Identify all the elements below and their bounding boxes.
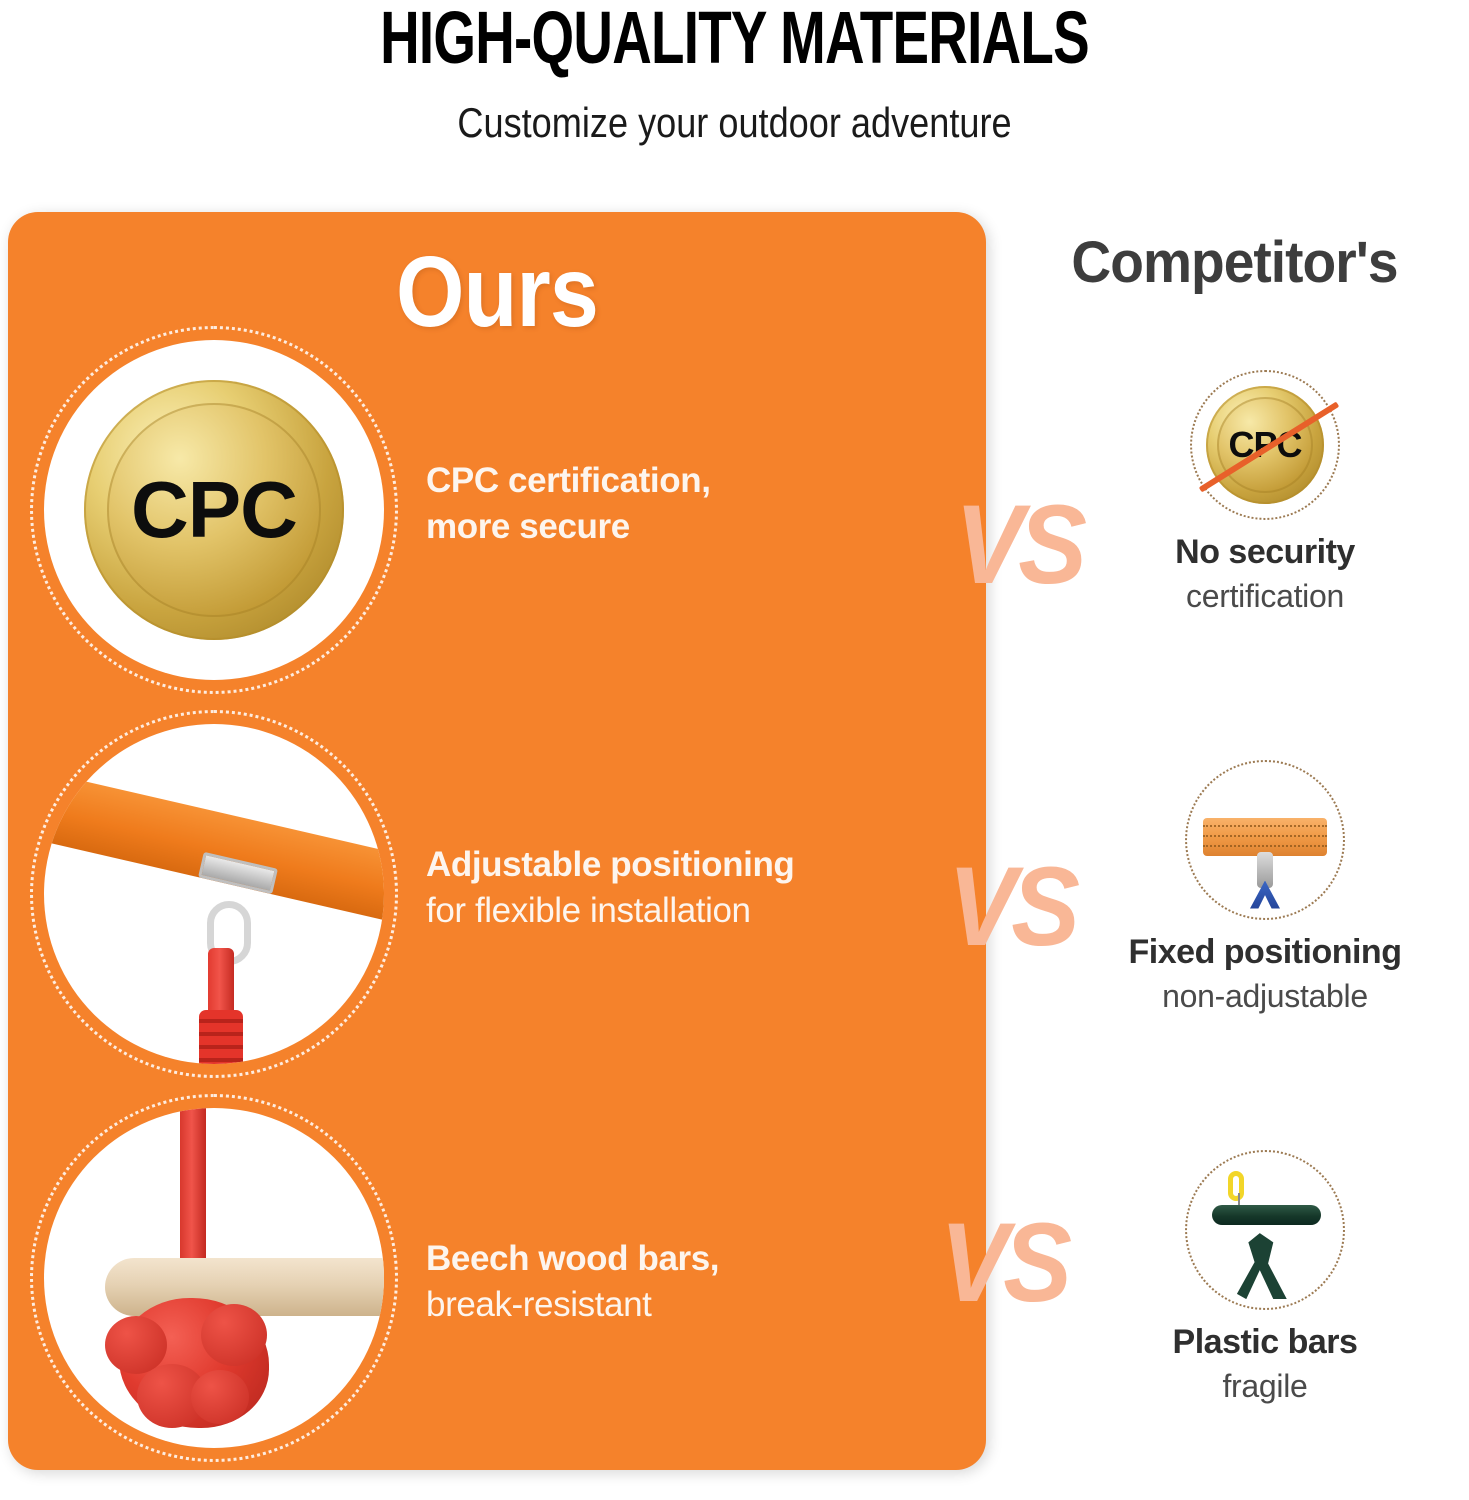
ours-feature-line2: break-resistant <box>426 1282 966 1328</box>
competitor-feature-row: CPC No security certification <box>1070 370 1460 618</box>
competitor-feature-text: Fixed positioning non-adjustable <box>1070 930 1460 1018</box>
page-header: HIGH-QUALITY MATERIALS Customize your ou… <box>0 0 1469 180</box>
ours-feature-row: Adjustable positioning for flexible inst… <box>8 724 986 1064</box>
vs-badge: VS <box>955 489 1081 601</box>
competitor-heading: Competitor's <box>1012 228 1458 298</box>
rope-knot-shape <box>119 1298 269 1428</box>
medal-label: CPC <box>131 464 297 556</box>
red-rope-grip-shape <box>199 1010 243 1064</box>
ours-feature-line2: more secure <box>426 504 966 550</box>
strap-carabiner-rope-icon <box>44 724 384 1064</box>
competitor-feature-text: No security certification <box>1070 530 1460 618</box>
green-hook-shape <box>1237 1233 1289 1299</box>
ours-feature-row: Beech wood bars, break-resistant <box>8 1108 986 1463</box>
stitch-line <box>1203 845 1328 847</box>
ours-feature-text: CPC certification, more secure <box>426 458 966 550</box>
ours-feature-line2: for flexible installation <box>426 888 966 934</box>
competitor-feature-line2: fragile <box>1070 1364 1460 1408</box>
plastic-bar-hook-icon <box>1185 1150 1345 1310</box>
competitor-feature-line1: Fixed positioning <box>1070 930 1460 974</box>
knot-lobe <box>201 1304 267 1366</box>
fixed-strap-hook-icon <box>1185 760 1345 920</box>
medal-inner-face: CPC <box>107 403 320 616</box>
fixed-strap-shape <box>1203 818 1328 855</box>
plastic-bar-shape <box>1212 1205 1321 1225</box>
blue-clip-shape <box>1250 881 1280 909</box>
vs-badge: VS <box>948 851 1074 963</box>
cpc-medal-crossed-out-icon: CPC <box>1190 370 1340 520</box>
competitor-feature-row: Plastic bars fragile <box>1070 1150 1460 1408</box>
competitor-feature-line1: No security <box>1070 530 1460 574</box>
ours-panel: Ours CPC CPC certification, more secure … <box>8 212 986 1470</box>
gold-medal-shape: CPC <box>84 380 344 640</box>
competitor-feature-row: Fixed positioning non-adjustable <box>1070 760 1460 1018</box>
competitor-feature-line2: non-adjustable <box>1070 974 1460 1018</box>
orange-strap-shape <box>44 769 384 924</box>
ours-feature-text: Adjustable positioning for flexible inst… <box>426 842 966 934</box>
ours-feature-text: Beech wood bars, break-resistant <box>426 1236 966 1328</box>
page-subtitle: Customize your outdoor adventure <box>103 96 1366 150</box>
ours-feature-line1: CPC certification, <box>426 458 966 504</box>
stitch-line <box>1203 825 1328 827</box>
competitor-feature-line1: Plastic bars <box>1070 1320 1460 1364</box>
stitch-line <box>1203 835 1328 837</box>
page-title: HIGH-QUALITY MATERIALS <box>191 0 1278 80</box>
ours-feature-line1: Beech wood bars, <box>426 1236 966 1282</box>
vs-badge: VS <box>940 1207 1066 1319</box>
beech-wood-bar-rope-knot-icon <box>44 1108 384 1448</box>
ours-feature-row: CPC CPC certification, more secure <box>8 340 986 680</box>
ours-heading: Ours <box>67 238 928 346</box>
yellow-carabiner-shape <box>1228 1171 1244 1201</box>
cpc-gold-medal-icon: CPC <box>44 340 384 680</box>
competitor-feature-line2: certification <box>1070 574 1460 618</box>
competitor-feature-text: Plastic bars fragile <box>1070 1320 1460 1408</box>
ours-feature-line1: Adjustable positioning <box>426 842 966 888</box>
knot-lobe <box>191 1370 249 1424</box>
